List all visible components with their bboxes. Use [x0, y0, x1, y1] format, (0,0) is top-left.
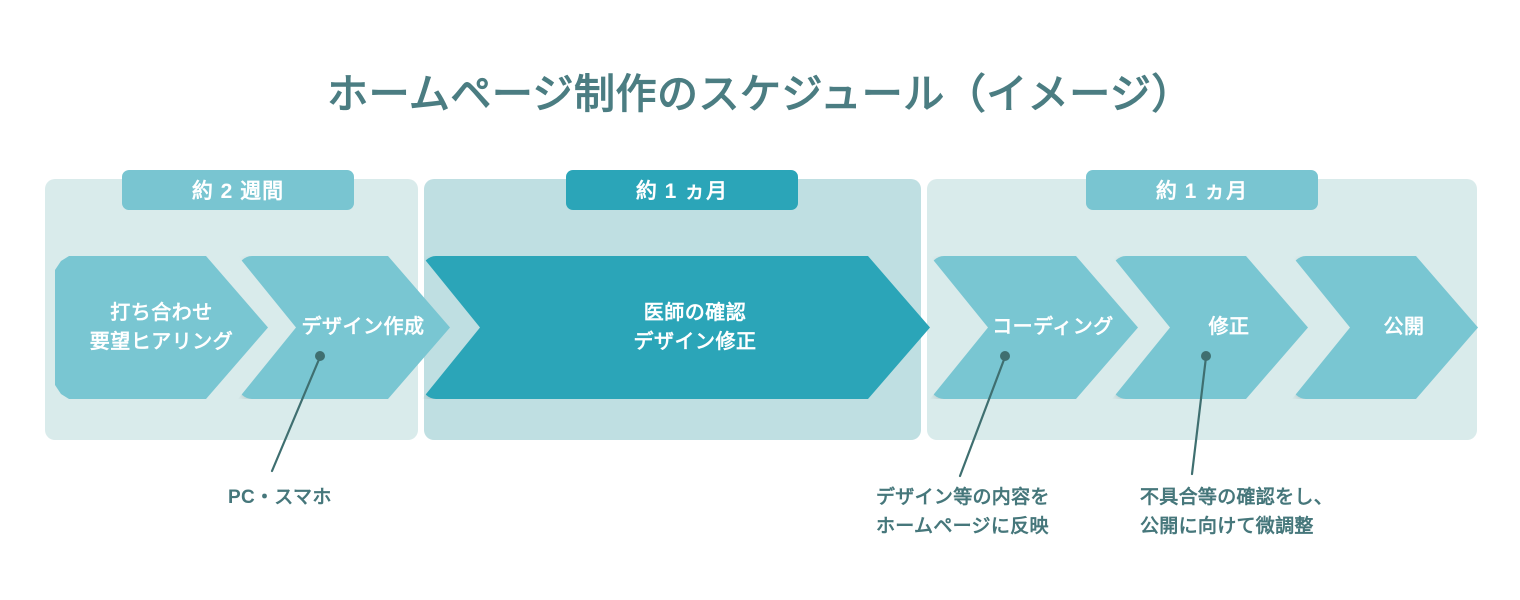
step-review[interactable]: 医師の確認 デザイン修正 — [422, 256, 930, 399]
callout-fix: 不具合等の確認をし、 公開に向けて微調整 — [1140, 484, 1333, 541]
step-publish-label: 公開 — [1346, 313, 1425, 342]
callout-coding: デザイン等の内容を ホームページに反映 — [876, 484, 1050, 541]
phase-duration-pill-3: 約 1 ヵ月 — [1086, 170, 1318, 210]
phase-duration-pill-1: 約 2 週間 — [122, 170, 354, 210]
step-meeting-label: 打ち合わせ 要望ヒアリング — [90, 299, 234, 357]
callout-design: PC・スマホ — [228, 484, 332, 513]
page-title: ホームページ制作のスケジュール（イメージ） — [0, 60, 1520, 120]
step-fix-label: 修正 — [1171, 313, 1250, 342]
step-review-label: 医師の確認 デザイン修正 — [596, 299, 757, 357]
schedule-diagram: ホームページ制作のスケジュール（イメージ） 約 2 週間 約 1 ヵ月 約 1 … — [0, 0, 1520, 600]
phase-duration-pill-2: 約 1 ヵ月 — [566, 170, 798, 210]
